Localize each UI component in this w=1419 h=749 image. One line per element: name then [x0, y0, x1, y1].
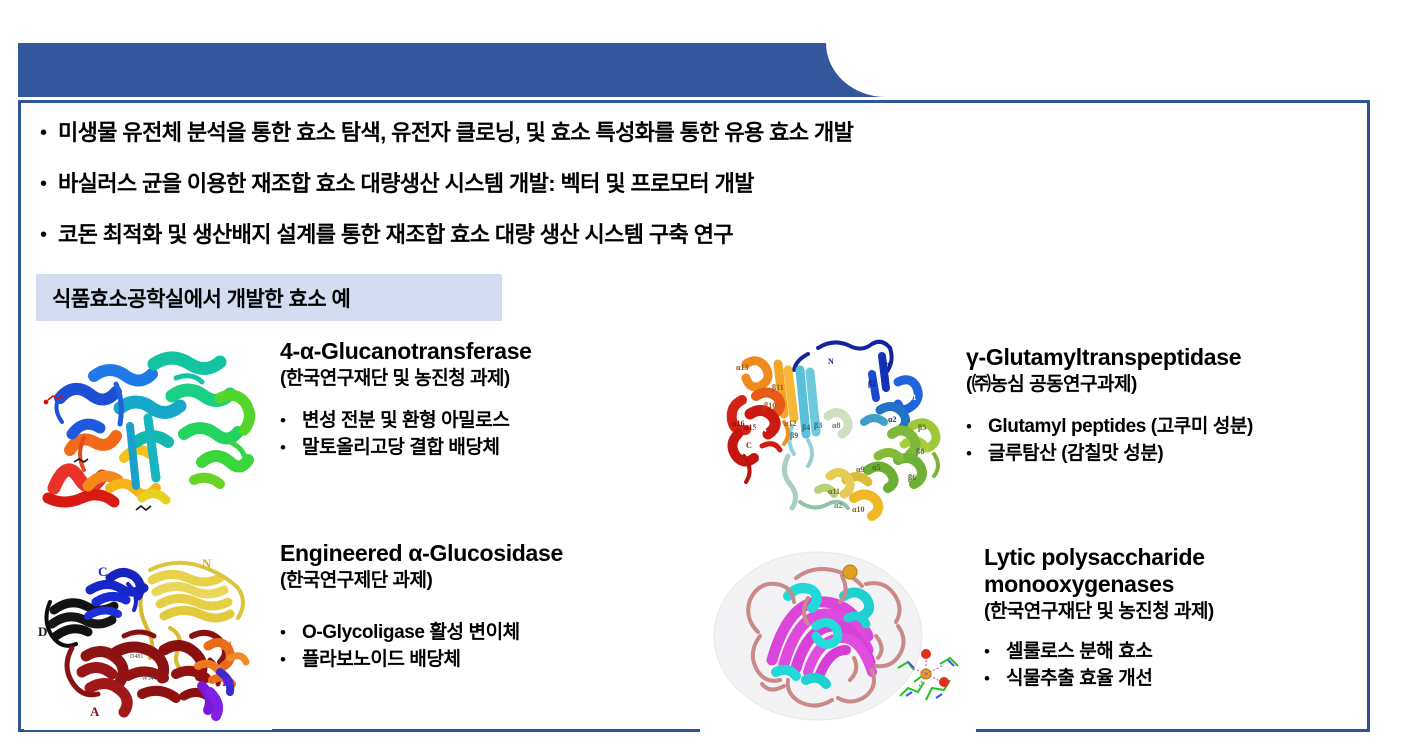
- feature-text: O-Glycoligase 활성 변이체: [302, 619, 520, 646]
- enzyme-info: Engineered α-Glucosidase (한국연구제단 과제) • O…: [272, 540, 696, 740]
- protein-structure-annotated-rainbow: N C β1 β2 α1 α2 β4 β3 β9 α8 β5 β8 β6 α3: [722, 330, 958, 535]
- enzyme-card-lpmo: Lytic polysaccharide monooxygenases (한국연…: [700, 540, 1402, 740]
- enzyme-feature: • 말토올리고당 결합 배당체: [280, 434, 696, 461]
- section-header: 식품효소공학실에서 개발한 효소 예: [36, 274, 502, 321]
- svg-text:A: A: [90, 704, 100, 719]
- enzyme-funding: (한국연구재단 및 농진청 과제): [280, 366, 696, 391]
- feature-marker: •: [966, 413, 988, 440]
- slide: 식품용 효소 개발 및 바실러스를 이용한 생산 시스템 개발 연구 • 미생물…: [0, 0, 1419, 749]
- feature-text: 글루탐산 (감칠맛 성분): [988, 440, 1163, 467]
- bullet-marker: •: [40, 169, 58, 199]
- bullet-text: 미생물 유전체 분석을 통한 효소 탐색, 유전자 클로닝, 및 효소 특성화를…: [58, 118, 853, 148]
- svg-text:D: D: [38, 624, 47, 639]
- enzyme-feature: • 식물추출 효율 개선: [984, 665, 1402, 692]
- enzyme-feature: • 셀룰로스 분해 효소: [984, 638, 1402, 665]
- svg-text:B': B': [220, 638, 232, 653]
- enzyme-funding: (한국연구제단 과제): [280, 568, 696, 593]
- feature-marker: •: [280, 434, 302, 461]
- feature-text: 말토올리고당 결합 배당체: [302, 434, 500, 461]
- enzyme-image-container: N C β1 β2 α1 α2 β4 β3 β9 α8 β5 β8 β6 α3: [722, 330, 958, 535]
- feature-text: 플라보노이드 배당체: [302, 646, 461, 673]
- enzyme-feature-list: • Glutamyl peptides (고쿠미 성분) • 글루탐산 (감칠맛…: [966, 413, 1402, 467]
- enzyme-feature: • 글루탐산 (감칠맛 성분): [966, 440, 1402, 467]
- enzyme-card-glutamyltranspeptidase: N C β1 β2 α1 α2 β4 β3 β9 α8 β5 β8 β6 α3: [722, 330, 1402, 535]
- enzyme-name: γ-Glutamyltranspeptidase: [966, 344, 1402, 371]
- bullet-marker: •: [40, 118, 58, 148]
- feature-marker: •: [280, 619, 302, 646]
- enzyme-image-container: N C D A B' B D481 W544: [24, 540, 272, 740]
- protein-structure-domain-colored: N C D A B' B D481 W544: [24, 540, 272, 730]
- enzyme-image-container: [700, 540, 976, 740]
- svg-text:W544: W544: [142, 676, 157, 682]
- protein-structure-beta-sandwich-copper: [700, 540, 976, 736]
- feature-marker: •: [984, 638, 1006, 665]
- feature-text: 식물추출 효율 개선: [1006, 665, 1152, 692]
- enzyme-feature-list: • 셀룰로스 분해 효소 • 식물추출 효율 개선: [984, 638, 1402, 692]
- protein-structure-rainbow-cartoon: [24, 338, 272, 523]
- svg-text:C: C: [98, 564, 107, 579]
- feature-marker: •: [280, 646, 302, 673]
- enzyme-name: Engineered α-Glucosidase: [280, 540, 696, 567]
- feature-text: 셀룰로스 분해 효소: [1006, 638, 1152, 665]
- enzyme-feature: • 변성 전분 및 환형 아밀로스: [280, 407, 696, 434]
- enzyme-name: Lytic polysaccharide monooxygenases: [984, 544, 1294, 598]
- bullet-item: • 코돈 최적화 및 생산배지 설계를 통한 재조합 효소 대량 생산 시스템 …: [40, 220, 1340, 250]
- enzyme-info: 4-α-Glucanotransferase (한국연구재단 및 농진청 과제)…: [272, 338, 696, 533]
- bullet-item: • 바실러스 균을 이용한 재조합 효소 대량생산 시스템 개발: 벡터 및 프…: [40, 169, 1340, 199]
- enzyme-feature: • Glutamyl peptides (고쿠미 성분): [966, 413, 1402, 440]
- svg-text:B: B: [222, 674, 231, 689]
- enzyme-funding: (㈜농심 공동연구과제): [966, 372, 1402, 397]
- enzyme-feature: • O-Glycoligase 활성 변이체: [280, 619, 696, 646]
- enzyme-name: 4-α-Glucanotransferase: [280, 338, 696, 365]
- bullet-marker: •: [40, 220, 58, 250]
- svg-text:D481: D481: [130, 654, 143, 660]
- bullet-item: • 미생물 유전체 분석을 통한 효소 탐색, 유전자 클로닝, 및 효소 특성…: [40, 118, 1340, 148]
- banner-curve-decoration: [826, 43, 888, 97]
- enzyme-feature: • 플라보노이드 배당체: [280, 646, 696, 673]
- svg-text:N: N: [202, 556, 212, 571]
- bullet-text: 바실러스 균을 이용한 재조합 효소 대량생산 시스템 개발: 벡터 및 프로모…: [58, 169, 754, 199]
- bullet-text: 코돈 최적화 및 생산배지 설계를 통한 재조합 효소 대량 생산 시스템 구축…: [58, 220, 733, 250]
- enzyme-image-container: [24, 338, 272, 533]
- enzyme-card-glucanotransferase: 4-α-Glucanotransferase (한국연구재단 및 농진청 과제)…: [24, 338, 696, 533]
- section-header-label: 식품효소공학실에서 개발한 효소 예: [52, 283, 350, 313]
- enzyme-info: Lytic polysaccharide monooxygenases (한국연…: [976, 540, 1402, 740]
- overview-bullet-list: • 미생물 유전체 분석을 통한 효소 탐색, 유전자 클로닝, 및 효소 특성…: [40, 118, 1340, 271]
- feature-text: 변성 전분 및 환형 아밀로스: [302, 407, 509, 434]
- enzyme-card-glucosidase: N C D A B' B D481 W544 Engineered α-Gluc…: [24, 540, 696, 740]
- feature-marker: •: [280, 407, 302, 434]
- enzyme-funding: (한국연구재단 및 농진청 과제): [984, 599, 1402, 624]
- feature-marker: •: [984, 665, 1006, 692]
- enzyme-feature-list: • 변성 전분 및 환형 아밀로스 • 말토올리고당 결합 배당체: [280, 407, 696, 461]
- feature-marker: •: [966, 440, 988, 467]
- page-title: 식품용 효소 개발 및 바실러스를 이용한 생산 시스템 개발 연구: [22, 0, 671, 54]
- enzyme-feature-list: • O-Glycoligase 활성 변이체 • 플라보노이드 배당체: [280, 619, 696, 673]
- feature-text: Glutamyl peptides (고쿠미 성분): [988, 413, 1253, 440]
- enzyme-info: γ-Glutamyltranspeptidase (㈜농심 공동연구과제) • …: [958, 330, 1402, 535]
